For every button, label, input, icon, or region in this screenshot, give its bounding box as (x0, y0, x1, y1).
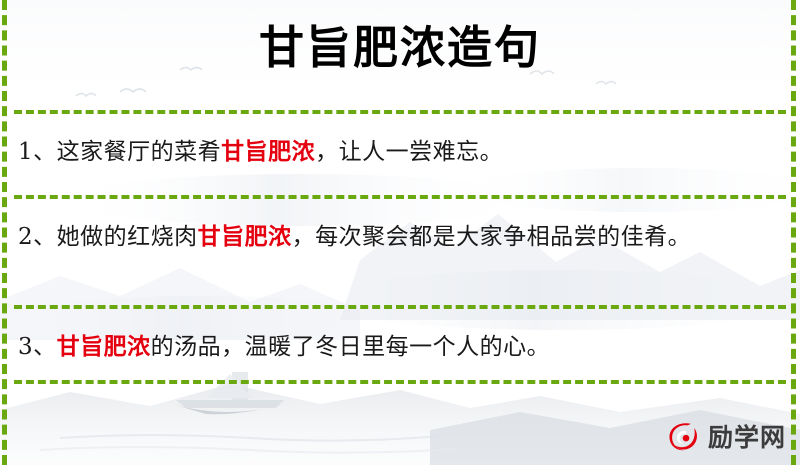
red-swirl-flame-icon (665, 419, 701, 455)
divider-bottom (14, 380, 786, 384)
keyword-highlight-2: 甘旨肥浓 (198, 223, 292, 250)
sentence-index-2: 2、 (18, 224, 57, 250)
sentence-index-1: 1、 (18, 139, 57, 165)
divider-1 (14, 195, 786, 199)
sentence-text-before-2: 她做的红烧肉 (57, 224, 198, 250)
boat-watermark (172, 372, 286, 414)
divider-2 (14, 305, 786, 309)
example-sentence-1: 1、这家餐厅的菜肴甘旨肥浓，让人一尝难忘。 (18, 133, 778, 171)
worksheet-page: 甘旨肥浓造句 1、这家餐厅的菜肴甘旨肥浓，让人一尝难忘。 2、她做的红烧肉甘旨肥… (0, 0, 800, 465)
keyword-highlight-1: 甘旨肥浓 (221, 138, 315, 165)
site-watermark-logo[interactable]: 励学网 (659, 415, 792, 459)
divider-top (14, 110, 786, 114)
sentence-text-after-1: ，让人一尝难忘。 (315, 139, 503, 165)
sentence-text-after-3: 的汤品，温暖了冬日里每一个人的心。 (151, 334, 551, 360)
example-sentence-2: 2、她做的红烧肉甘旨肥浓，每次聚会都是大家争相品尝的佳肴。 (18, 218, 778, 256)
example-sentence-3: 3、甘旨肥浓的汤品，温暖了冬日里每一个人的心。 (18, 328, 778, 366)
page-title-container: 甘旨肥浓造句 (0, 22, 800, 74)
sentence-text-after-2: ，每次聚会都是大家争相品尝的佳肴。 (292, 224, 692, 250)
keyword-highlight-3: 甘旨肥浓 (57, 333, 151, 360)
page-title: 甘旨肥浓造句 (0, 22, 800, 74)
sentence-index-3: 3、 (18, 334, 57, 360)
sentence-text-before-1: 这家餐厅的菜肴 (57, 139, 222, 165)
site-watermark-text: 励学网 (708, 425, 786, 450)
